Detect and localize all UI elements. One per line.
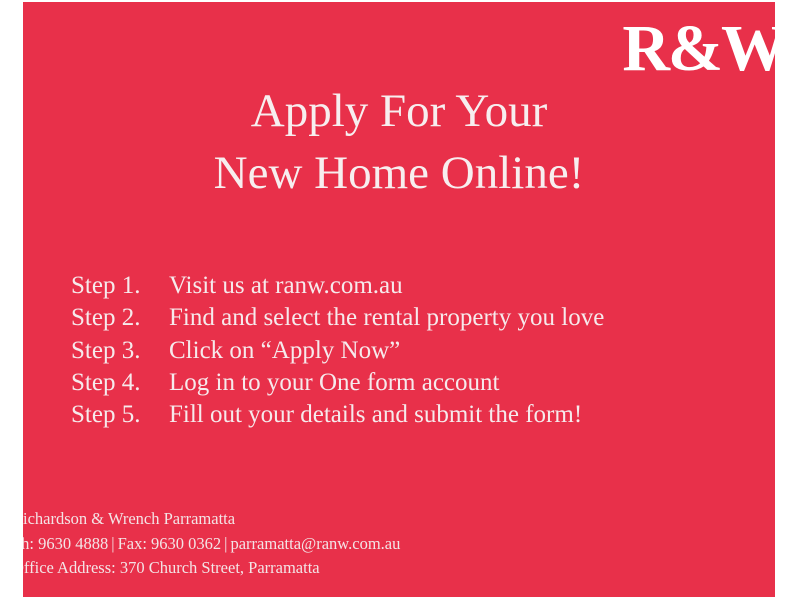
step-label: Step 2.	[71, 302, 169, 334]
footer-address: Office Address: 370 Church Street, Parra…	[23, 556, 400, 580]
footer-office-name: Richardson & Wrench Parramatta	[23, 507, 400, 531]
list-item: Step 1. Visit us at ranw.com.au	[71, 270, 604, 302]
footer-contact-line: Ph: 9630 4888|Fax: 9630 0362|parramatta@…	[23, 532, 400, 556]
footer-contact-block: Richardson & Wrench Parramatta Ph: 9630 …	[23, 507, 400, 580]
step-label: Step 5.	[71, 399, 169, 431]
list-item: Step 2. Find and select the rental prope…	[71, 302, 604, 334]
step-text: Click on “Apply Now”	[169, 335, 400, 367]
step-text: Log in to your One form account	[169, 367, 499, 399]
list-item: Step 5. Fill out your details and submit…	[71, 399, 604, 431]
slide-canvas: R&W Apply For Your New Home Online! Step…	[0, 0, 800, 600]
footer-separator: |	[108, 534, 117, 553]
page-title: Apply For Your New Home Online!	[23, 80, 775, 204]
red-poster-panel: R&W Apply For Your New Home Online! Step…	[23, 2, 775, 597]
richardson-and-wrench-logo: R&W	[622, 16, 775, 82]
list-item: Step 4. Log in to your One form account	[71, 367, 604, 399]
list-item: Step 3. Click on “Apply Now”	[71, 335, 604, 367]
headline-line-1: Apply For Your	[23, 80, 775, 142]
footer-fax: Fax: 9630 0362	[118, 534, 222, 553]
step-text: Visit us at ranw.com.au	[169, 270, 403, 302]
step-text: Fill out your details and submit the for…	[169, 399, 582, 431]
steps-list: Step 1. Visit us at ranw.com.au Step 2. …	[71, 270, 604, 431]
step-label: Step 4.	[71, 367, 169, 399]
headline-line-2: New Home Online!	[23, 142, 775, 204]
footer-phone: Ph: 9630 4888	[23, 534, 108, 553]
step-text: Find and select the rental property you …	[169, 302, 604, 334]
footer-email[interactable]: parramatta@ranw.com.au	[230, 534, 400, 553]
step-label: Step 1.	[71, 270, 169, 302]
step-label: Step 3.	[71, 335, 169, 367]
